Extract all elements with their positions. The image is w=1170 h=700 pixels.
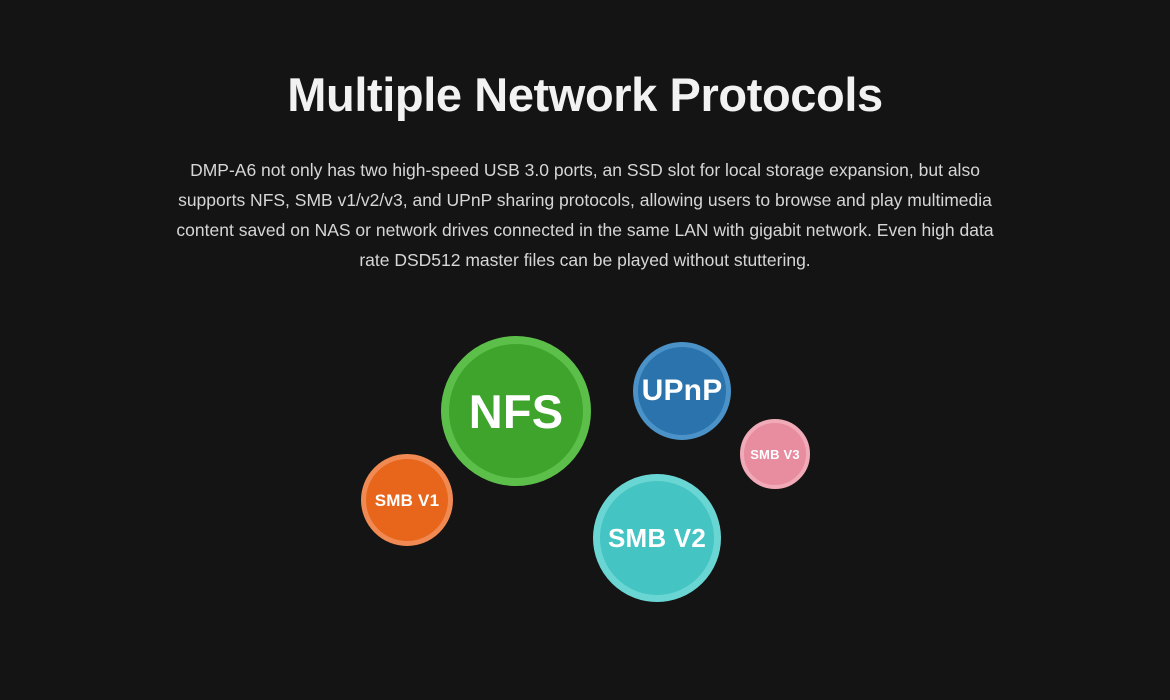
protocol-bubble-label: SMB V3 bbox=[750, 448, 800, 461]
protocol-bubble-label: SMB V1 bbox=[375, 492, 440, 509]
protocol-bubble-upnp: UPnP bbox=[633, 342, 731, 440]
protocol-bubble-cluster: NFS UPnP SMB V2 SMB V1 SMB V3 bbox=[0, 0, 1170, 700]
protocol-bubble-smb-v1: SMB V1 bbox=[361, 454, 453, 546]
protocol-bubble-label: SMB V2 bbox=[608, 525, 706, 551]
protocol-bubble-label: NFS bbox=[469, 388, 564, 435]
protocol-bubble-smb-v3: SMB V3 bbox=[740, 419, 810, 489]
protocol-bubble-smb-v2: SMB V2 bbox=[593, 474, 721, 602]
marketing-page: Multiple Network Protocols DMP-A6 not on… bbox=[0, 0, 1170, 700]
protocol-bubble-label: UPnP bbox=[642, 376, 723, 406]
protocol-bubble-nfs: NFS bbox=[441, 336, 591, 486]
